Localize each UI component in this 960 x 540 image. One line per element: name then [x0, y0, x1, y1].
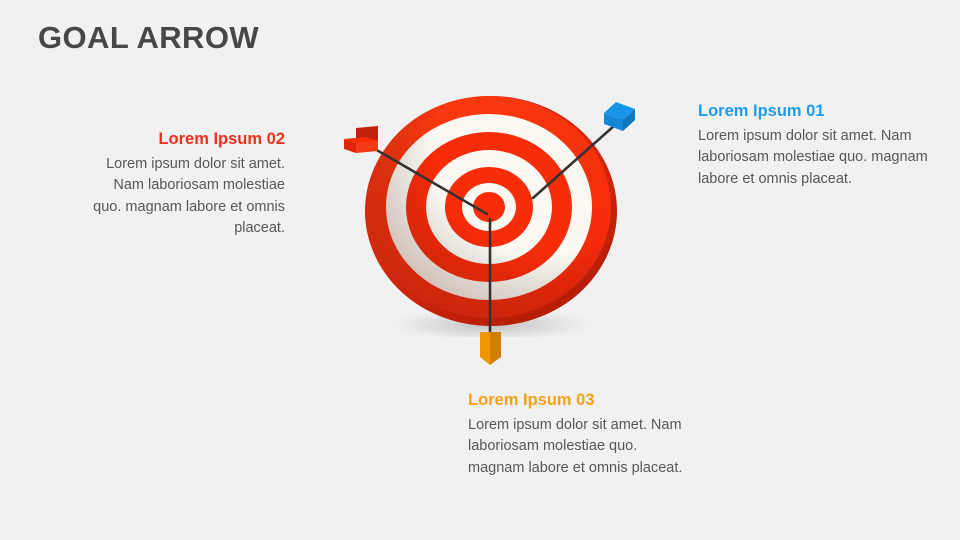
- callout-01-body: Lorem ipsum dolor sit amet. Nam laborios…: [698, 126, 933, 190]
- target-dartboard-graphic: [360, 92, 622, 337]
- callout-03-heading: Lorem Ipsum 03: [468, 390, 683, 411]
- callout-01-heading: Lorem Ipsum 01: [698, 101, 933, 122]
- callout-02-body: Lorem ipsum dolor sit amet. Nam laborios…: [85, 154, 285, 240]
- page-title: GOAL ARROW: [38, 20, 259, 56]
- callout-03: Lorem Ipsum 03 Lorem ipsum dolor sit ame…: [468, 390, 683, 479]
- arrow-blue-fletch-tail: [623, 109, 635, 131]
- target-shading: [367, 96, 611, 318]
- callout-01: Lorem Ipsum 01 Lorem ipsum dolor sit ame…: [698, 101, 933, 190]
- callout-02: Lorem Ipsum 02 Lorem ipsum dolor sit ame…: [85, 129, 285, 239]
- callout-03-body: Lorem ipsum dolor sit amet. Nam laborios…: [468, 415, 683, 479]
- arrow-red-fletch-tail: [344, 139, 356, 153]
- callout-02-heading: Lorem Ipsum 02: [85, 129, 285, 150]
- slide-canvas: GOAL ARROW: [0, 0, 960, 540]
